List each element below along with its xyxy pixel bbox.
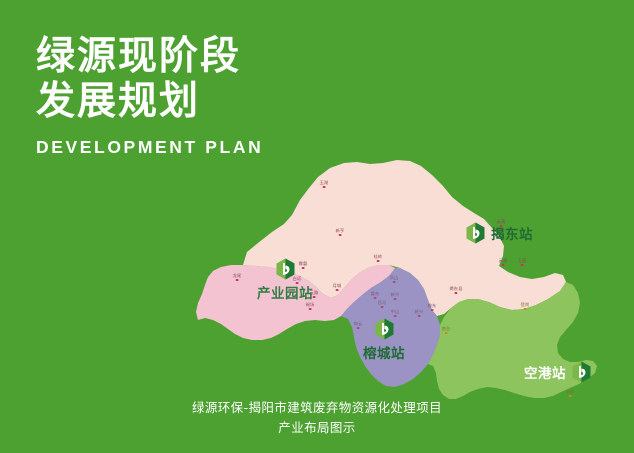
station-label-konggang: 空港站	[524, 362, 566, 382]
station-marker-konggang[interactable]: 空港站	[524, 361, 591, 383]
station-marker-jiedong[interactable]: 揭东站	[466, 222, 533, 244]
lvyuan-logo-icon	[466, 222, 485, 244]
page-subtitle: DEVELOPMENT PLAN	[36, 137, 376, 158]
caption-line-1: 绿源环保-揭阳市建筑废弃物资源化处理项目	[0, 398, 634, 418]
title-block: 绿源现阶段 发展规划 DEVELOPMENT PLAN	[36, 34, 376, 158]
station-label-rongcheng: 榕城站	[363, 342, 405, 362]
station-marker-chanyeyuan[interactable]: 产业园站	[257, 258, 313, 302]
caption-block: 绿源环保-揭阳市建筑废弃物资源化处理项目 产业布局图示	[0, 398, 634, 438]
station-marker-rongcheng[interactable]: 榕城站	[363, 318, 405, 362]
poster-canvas: 玉湖新亨桂岭霖磐白塔龙尾月城云路锡场磐东凤山新兴西马中山榕东新兴梅云揭东县云落玉…	[0, 0, 634, 453]
station-label-jiedong: 揭东站	[491, 223, 533, 243]
station-label-chanyeyuan: 产业园站	[257, 282, 313, 302]
lvyuan-logo-icon	[276, 258, 295, 280]
page-title-line-2: 发展规划	[36, 79, 376, 124]
caption-line-2: 产业布局图示	[0, 418, 634, 438]
lvyuan-logo-icon	[572, 361, 591, 383]
page-title-line-1: 绿源现阶段	[36, 34, 376, 79]
lvyuan-logo-icon	[375, 318, 394, 340]
